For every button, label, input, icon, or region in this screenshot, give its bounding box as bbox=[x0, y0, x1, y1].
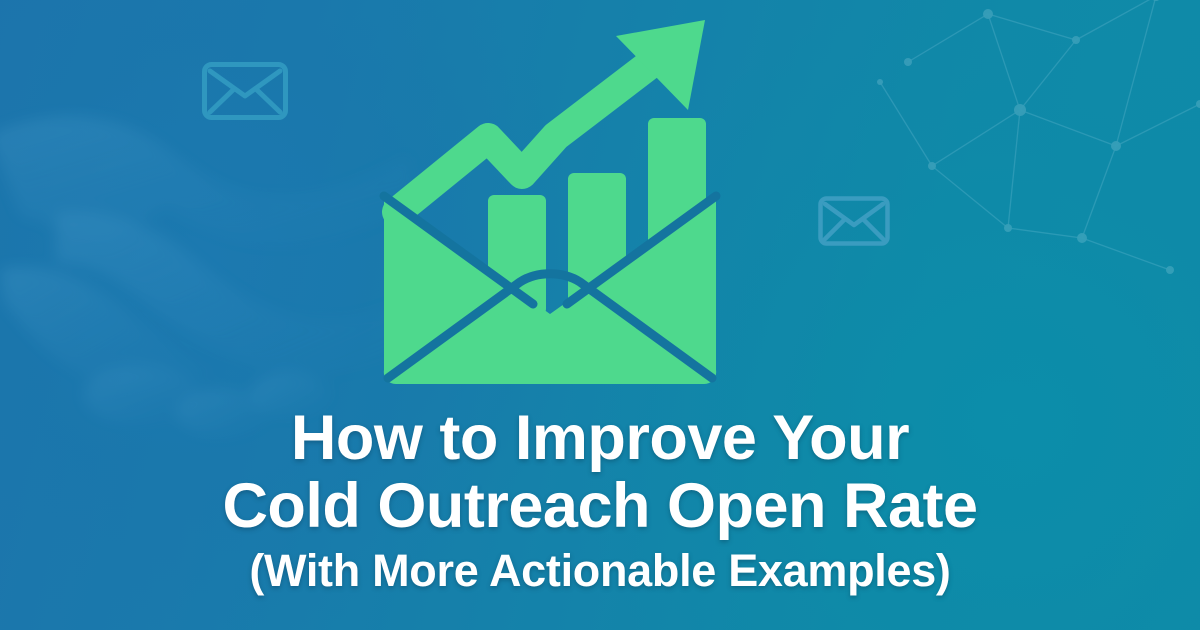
title-line-1: How to Improve Your bbox=[0, 404, 1200, 472]
featured-image-canvas: How to Improve Your Cold Outreach Open R… bbox=[0, 0, 1200, 630]
title-line-2: Cold Outreach Open Rate bbox=[0, 472, 1200, 540]
email-growth-chart-icon bbox=[370, 14, 730, 398]
subtitle: (With More Actionable Examples) bbox=[0, 542, 1200, 600]
envelope-outline-mid-right-icon bbox=[818, 196, 890, 246]
envelope-outline-top-left-icon bbox=[202, 62, 288, 120]
title-block: How to Improve Your Cold Outreach Open R… bbox=[0, 404, 1200, 600]
network-node-mesh bbox=[870, 0, 1200, 300]
